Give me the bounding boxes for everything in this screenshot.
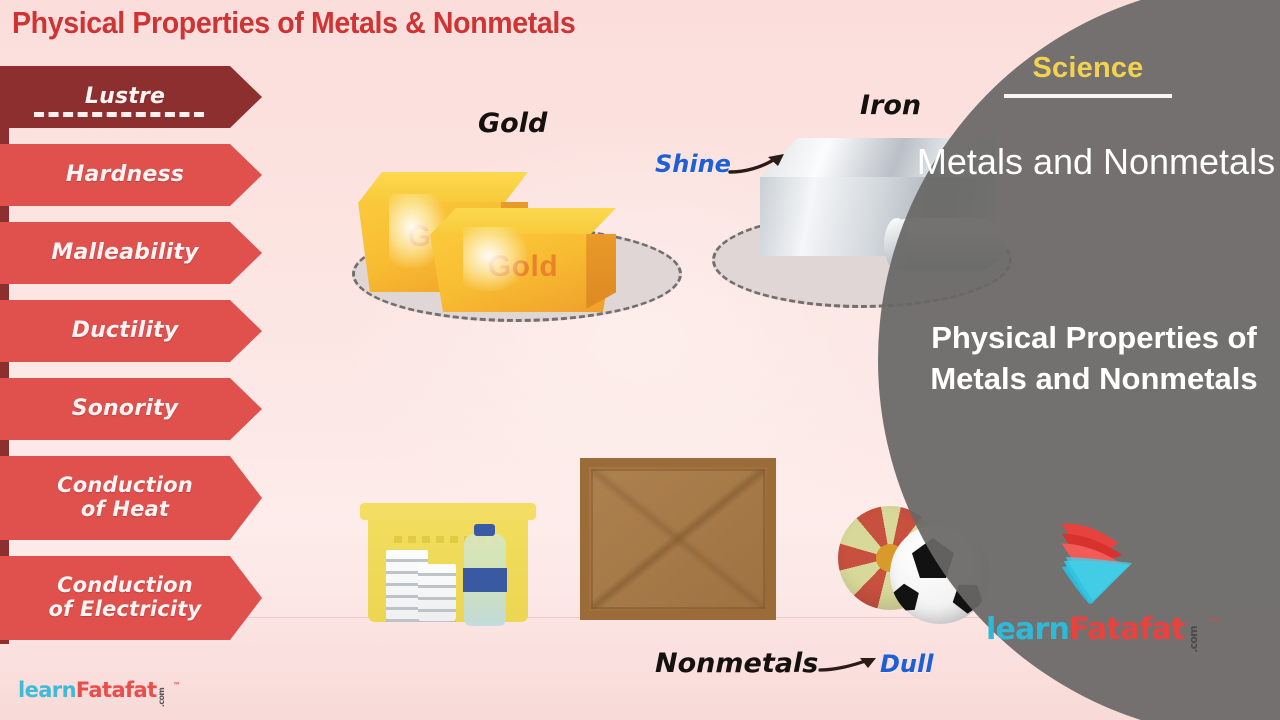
info-panel-content: Science Metals and Nonmetals Physical Pr…: [878, 0, 1280, 720]
brand-wordmark: learnFatafat.com™: [986, 612, 1216, 647]
logo-dotcom-text: .com: [157, 688, 166, 707]
sidebar-item-label: Malleability: [51, 241, 198, 266]
sidebar-item-malleability[interactable]: Malleability: [0, 222, 262, 284]
gold-bar-front: Gold: [430, 208, 616, 312]
shine-arrow-icon: [728, 146, 794, 182]
chapter-title: Metals and Nonmetals: [906, 138, 1280, 186]
logo-fatafat-text: Fatafat: [1069, 612, 1185, 647]
wooden-crate: [580, 458, 776, 620]
brand-logo: learnFatafat.com™: [986, 518, 1216, 670]
logo-tm-text: ™: [173, 681, 180, 690]
logo-dotcom-text: .com: [1186, 626, 1199, 653]
gold-bars-illustration: Gold Gold: [340, 150, 670, 320]
info-panel: Science Metals and Nonmetals Physical Pr…: [860, 0, 1280, 720]
plastic-crate-rim: [360, 503, 536, 520]
subject-label: Science: [878, 52, 1280, 85]
sidebar-item-label: Sonority: [72, 397, 179, 422]
nonmetals-label: Nonmetals: [655, 648, 818, 679]
sidebar-item-label: Lustre: [85, 85, 165, 110]
plastic-objects-illustration: [358, 498, 548, 628]
sidebar-item-label: Conduction of Electricity: [49, 574, 202, 621]
sidebar-item-lustre[interactable]: Lustre: [0, 66, 262, 128]
sidebar-item-sonority[interactable]: Sonority: [0, 378, 262, 440]
sidebar-item-label-line1: Conduction: [57, 473, 193, 497]
sidebar-item-label: Conduction of Heat: [57, 474, 193, 521]
bottle-label: [463, 568, 507, 592]
gold-bar-top-face: [358, 172, 528, 203]
logo-learn-text: learn: [986, 612, 1069, 647]
subject-underline: [1004, 94, 1172, 98]
page-title: Physical Properties of Metals & Nonmetal…: [12, 5, 575, 41]
gold-label: Gold: [478, 108, 547, 139]
shine-label: Shine: [655, 150, 731, 178]
sidebar-item-hardness[interactable]: Hardness: [0, 144, 262, 206]
logo-fatafat-text: Fatafat: [76, 678, 157, 702]
sidebar-item-conduction-of-electricity[interactable]: Conduction of Electricity: [0, 556, 262, 640]
sidebar-item-label-line2: of Heat: [81, 497, 169, 521]
sidebar-item-label-line2: of Electricity: [49, 597, 202, 621]
watermark-logo: learnFatafat.com™: [18, 678, 180, 702]
sidebar-item-ductility[interactable]: Ductility: [0, 300, 262, 362]
properties-nav: Lustre Hardness Malleability Ductility S…: [0, 66, 262, 656]
logo-learn-text: learn: [18, 678, 76, 702]
sidebar-item-conduction-of-heat[interactable]: Conduction of Heat: [0, 456, 262, 540]
paper-cups-stack-short: [418, 564, 456, 622]
slide-canvas: Physical Properties of Metals & Nonmetal…: [0, 0, 1280, 720]
learnfatafat-play-book-icon: [1048, 518, 1146, 610]
gold-bar-stamp: Gold: [430, 250, 616, 284]
active-underline: [34, 112, 204, 117]
plastic-bottle: [464, 534, 506, 626]
logo-tm-text: ™: [1208, 616, 1218, 629]
sidebar-item-label: Ductility: [72, 319, 179, 344]
gold-bar-top-face: [430, 208, 616, 235]
sidebar-item-label: Hardness: [66, 163, 184, 188]
topic-title: Physical Properties of Metals and Nonmet…: [896, 318, 1280, 400]
sidebar-item-label-line1: Conduction: [57, 573, 193, 597]
bottle-cap: [474, 524, 495, 536]
